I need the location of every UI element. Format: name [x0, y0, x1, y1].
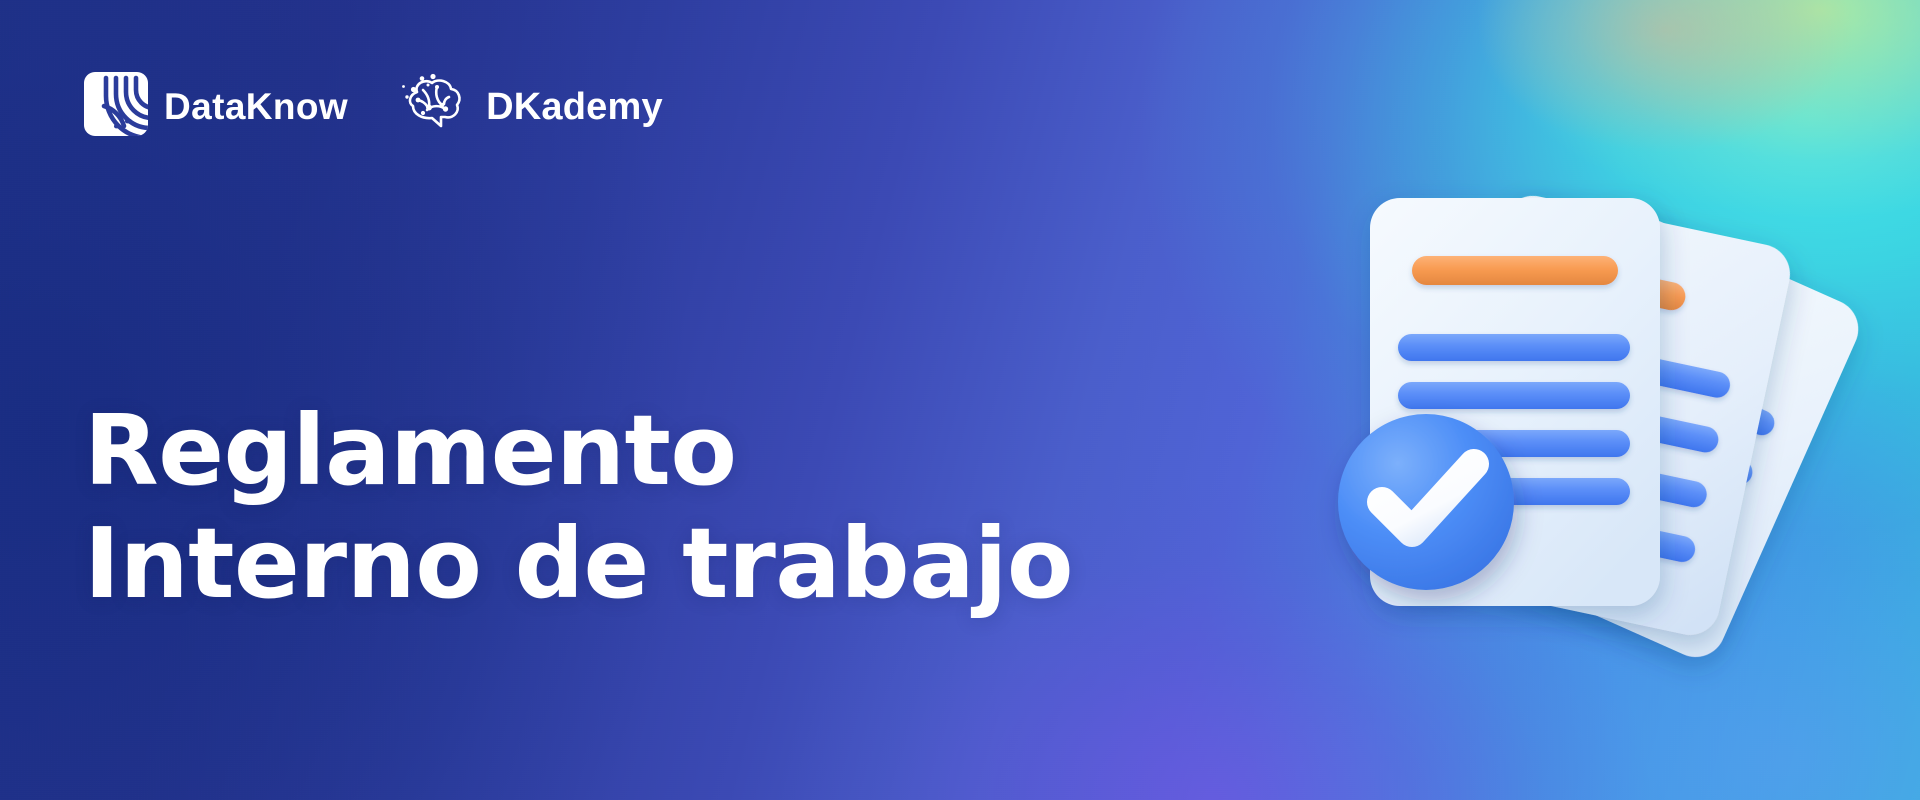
fingerprint-square-icon — [84, 72, 148, 141]
doc-text-line — [1398, 382, 1630, 409]
promo-banner: DataKnow — [0, 0, 1920, 800]
doc-text-line — [1398, 334, 1630, 361]
page-title-line-1: Reglamento — [84, 395, 1073, 508]
doc-title-line — [1412, 256, 1618, 285]
brand-dkademy[interactable]: DKademy — [394, 72, 663, 141]
stacked-documents-illustration — [1308, 150, 1868, 690]
page-title-line-2: Interno de trabajo — [84, 508, 1073, 621]
brand-row: DataKnow — [84, 72, 663, 141]
brand-dataknow[interactable]: DataKnow — [84, 72, 348, 141]
page-title: Reglamento Interno de trabajo — [84, 395, 1073, 620]
brand-dkademy-label: DKademy — [486, 88, 663, 126]
brand-dataknow-label: DataKnow — [164, 88, 348, 125]
brain-network-icon — [394, 72, 470, 141]
check-circle-badge — [1338, 414, 1514, 590]
